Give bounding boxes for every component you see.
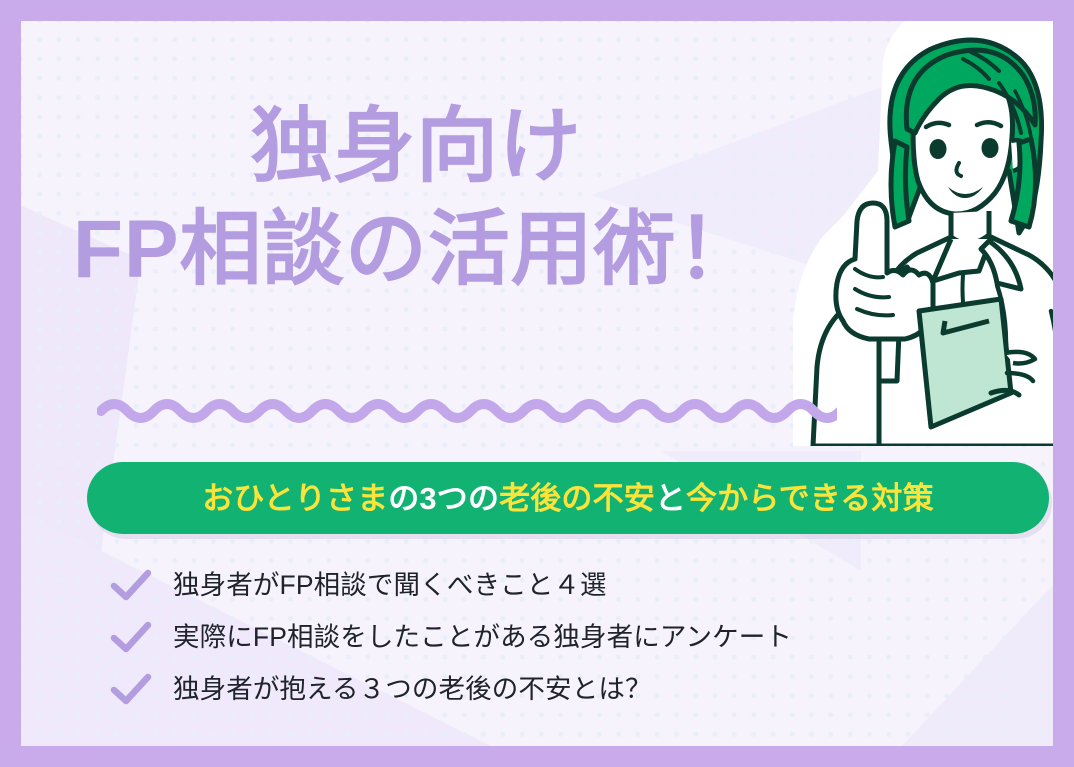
checklist: 独身者がFP相談で聞くべきこと４選 実際にFP相談をしたことがある独身者にアンケ… <box>109 561 1009 717</box>
list-item-label: 独身者がFP相談で聞くべきこと４選 <box>173 572 607 599</box>
wavy-underline-icon <box>97 393 837 435</box>
female-financial-planner-pointing-up-illustration <box>783 21 1053 446</box>
inner-panel: 独身向け FP相談の活用術！ おひとりさまの3つの老後の不安と今からできる対策 <box>21 21 1053 746</box>
check-icon <box>109 620 153 654</box>
page-title: 独身向け FP相談の活用術！ <box>21 95 811 302</box>
check-icon <box>109 568 153 602</box>
article-eyecatch-banner: 独身向け FP相談の活用術！ おひとりさまの3つの老後の不安と今からできる対策 <box>0 0 1074 767</box>
check-icon <box>109 672 153 706</box>
subtitle-text: おひとりさまの3つの老後の不安と今からできる対策 <box>202 483 934 514</box>
list-item-label: 実際にFP相談をしたことがある独身者にアンケート <box>173 624 792 651</box>
subtitle-pill: おひとりさまの3つの老後の不安と今からできる対策 <box>87 462 1049 534</box>
list-item-label: 独身者が抱える３つの老後の不安とは？ <box>173 676 652 703</box>
list-item: 独身者がFP相談で聞くべきこと４選 <box>109 561 1009 609</box>
subtitle-segment-5: 今からできる対策 <box>686 481 934 516</box>
list-item: 独身者が抱える３つの老後の不安とは？ <box>109 665 1009 713</box>
page-title-line-1: 独身向け <box>21 95 811 198</box>
subtitle-segment-3: 老後の不安 <box>499 481 655 516</box>
subtitle-segment-1: おひとりさま <box>202 481 388 516</box>
page-title-line-2: FP相談の活用術！ <box>21 198 811 301</box>
subtitle-segment-2: の3つの <box>388 481 499 516</box>
subtitle-segment-4: と <box>655 481 686 516</box>
list-item: 実際にFP相談をしたことがある独身者にアンケート <box>109 613 1009 661</box>
